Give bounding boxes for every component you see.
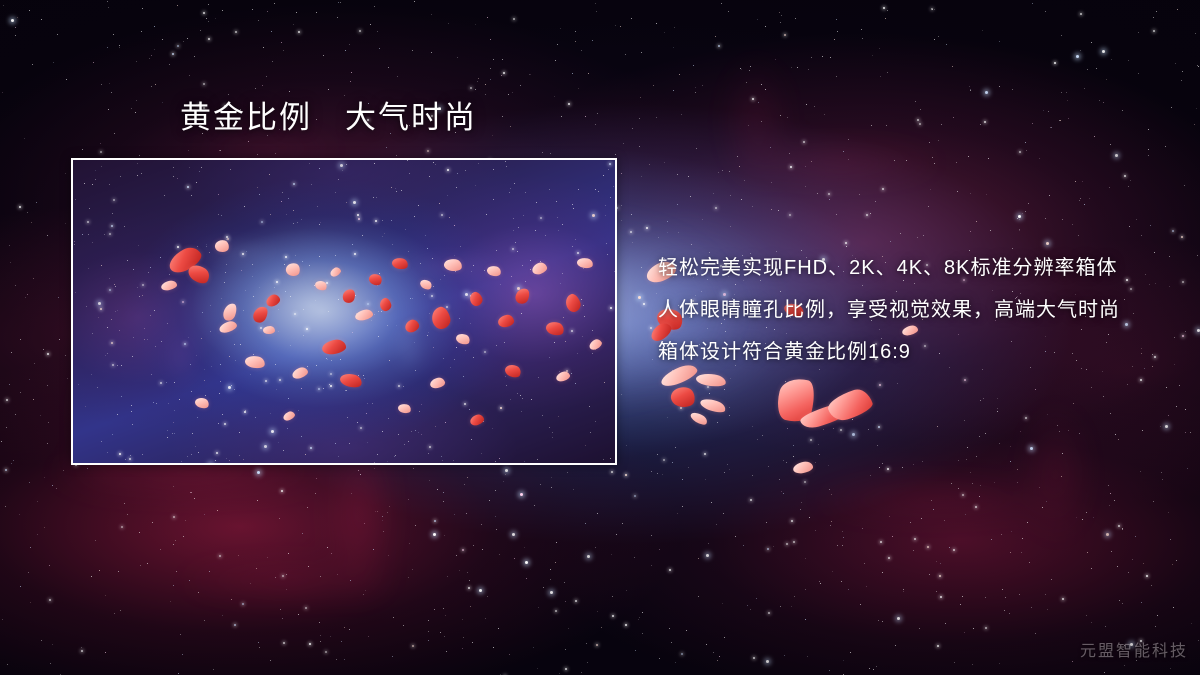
frame-inner xyxy=(73,160,615,463)
body-line-2: 人体眼睛瞳孔比例，享受视觉效果，高端大气时尚 xyxy=(658,300,1178,320)
watermark: 元盟智能科技 xyxy=(1080,637,1188,661)
frame-starfield xyxy=(73,160,615,463)
body-line-3: 箱体设计符合黄金比例16:9 xyxy=(658,342,1178,362)
body-line-1: 轻松完美实现FHD、2K、4K、8K标准分辨率箱体 xyxy=(658,258,1178,278)
petal xyxy=(263,326,275,334)
presentation-slide: 黄金比例 大气时尚 轻松完美实现FHD、2K、4K、8K标准分辨率箱体 人体眼睛… xyxy=(0,0,1200,675)
body-text-block: 轻松完美实现FHD、2K、4K、8K标准分辨率箱体 人体眼睛瞳孔比例，享受视觉效… xyxy=(658,258,1178,384)
page-title: 黄金比例 大气时尚 xyxy=(180,101,477,136)
framed-nebula-image[interactable] xyxy=(71,158,617,465)
